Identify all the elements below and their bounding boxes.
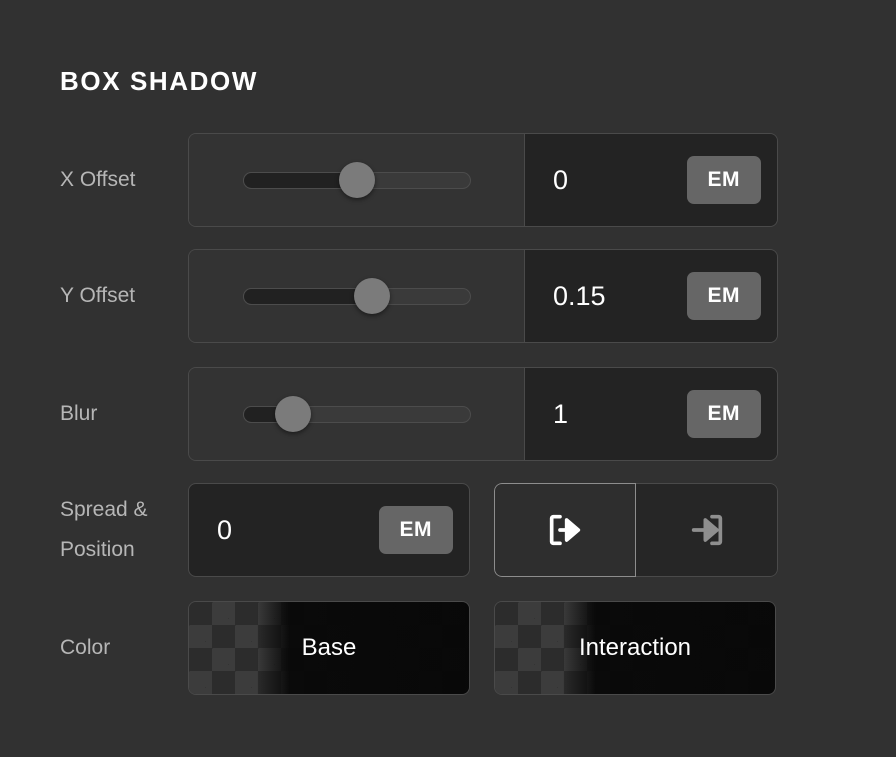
y-offset-combo: 0.15 EM [188,249,778,343]
spread-value[interactable]: 0 [217,513,232,547]
outset-button[interactable] [494,483,636,577]
x-offset-controls: 0 EM [188,133,778,227]
base-color-swatch[interactable]: Base [188,601,470,695]
spread-position-label: Spread & Position [0,490,188,570]
y-offset-unit-button[interactable]: EM [687,272,762,320]
x-offset-label: X Offset [0,160,188,200]
blur-value-area[interactable]: 1 EM [525,368,777,460]
box-shadow-panel: BOX SHADOW X Offset 0 EM Y Offset [0,0,896,757]
x-offset-value[interactable]: 0 [553,163,568,197]
y-offset-label: Y Offset [0,276,188,316]
y-offset-slider[interactable] [243,283,471,309]
arrow-out-of-bracket-icon [545,510,585,550]
color-label: Color [0,628,188,668]
page-title: BOX SHADOW [60,63,258,99]
interaction-color-label: Interaction [579,633,691,663]
blur-value[interactable]: 1 [553,397,568,431]
y-offset-value-area[interactable]: 0.15 EM [525,250,777,342]
x-offset-slider[interactable] [243,167,471,193]
inset-button[interactable] [636,483,778,577]
color-controls: Base Interaction [188,601,776,695]
y-offset-controls: 0.15 EM [188,249,778,343]
slider-thumb[interactable] [339,162,375,198]
x-offset-combo: 0 EM [188,133,778,227]
interaction-color-swatch[interactable]: Interaction [494,601,776,695]
position-toggle-group [494,483,778,577]
row-color: Color Base Interaction [0,601,896,695]
blur-unit-button[interactable]: EM [687,390,762,438]
spread-value-box[interactable]: 0 EM [188,483,470,577]
slider-fill [243,288,373,305]
spread-position-controls: 0 EM [188,483,778,577]
blur-label: Blur [0,394,188,434]
base-color-label: Base [302,633,357,663]
x-offset-slider-area[interactable] [189,134,525,226]
y-offset-slider-area[interactable] [189,250,525,342]
row-x-offset: X Offset 0 EM [0,133,896,227]
x-offset-value-area[interactable]: 0 EM [525,134,777,226]
arrow-into-bracket-icon [687,510,727,550]
row-y-offset: Y Offset 0.15 EM [0,249,896,343]
blur-controls: 1 EM [188,367,778,461]
x-offset-unit-button[interactable]: EM [687,156,762,204]
blur-slider-area[interactable] [189,368,525,460]
blur-combo: 1 EM [188,367,778,461]
blur-slider[interactable] [243,401,471,427]
spread-position-label-line2: Position [60,530,188,570]
slider-thumb[interactable] [275,396,311,432]
y-offset-value[interactable]: 0.15 [553,279,606,313]
spread-unit-button[interactable]: EM [379,506,454,554]
row-blur: Blur 1 EM [0,367,896,461]
row-spread-position: Spread & Position 0 EM [0,483,896,577]
spread-position-label-line1: Spread & [60,490,188,530]
slider-thumb[interactable] [354,278,390,314]
